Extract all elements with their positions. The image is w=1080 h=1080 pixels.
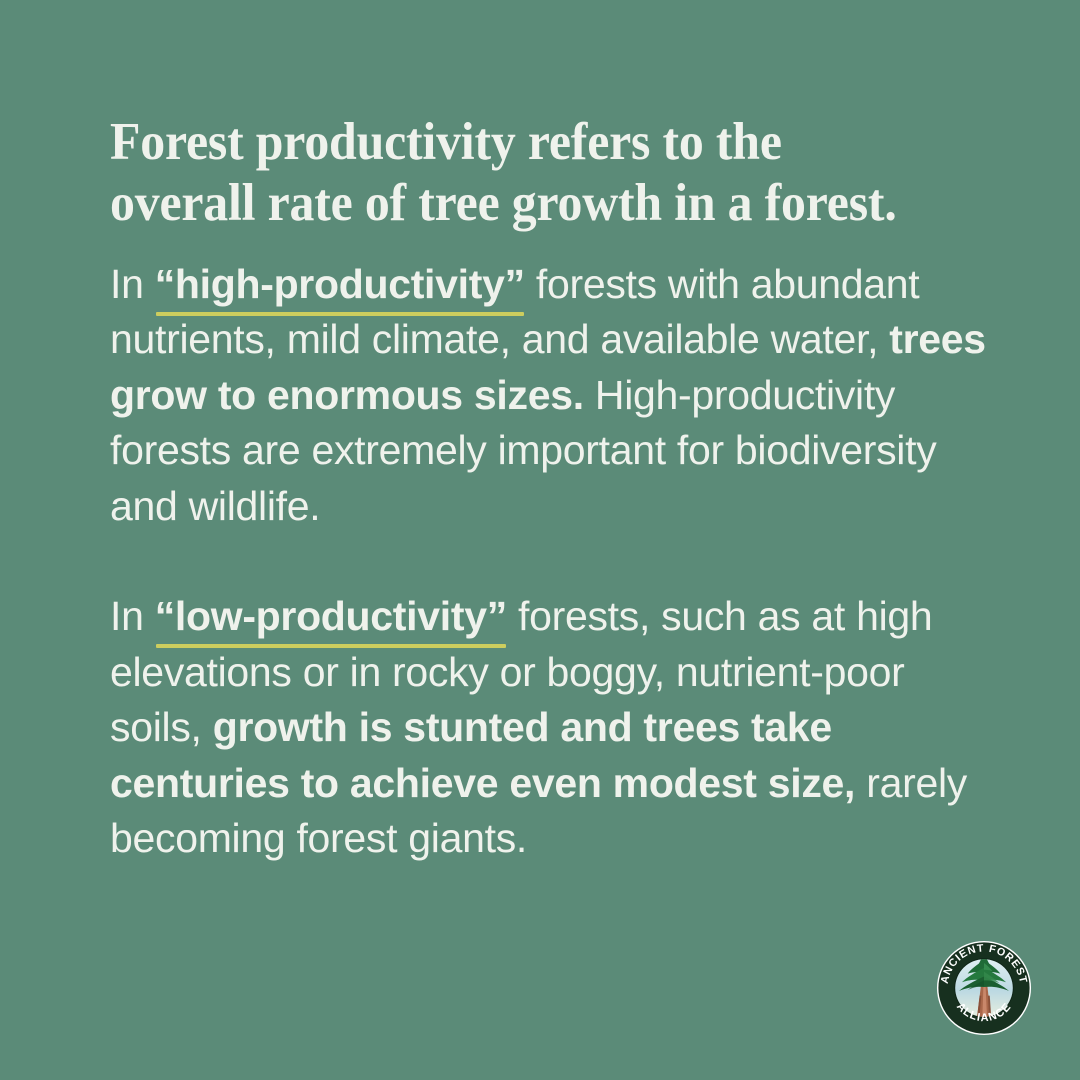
paragraph-high-productivity: In “high-productivity” forests with abun…	[110, 257, 990, 535]
page-title: Forest productivity refers to the overal…	[110, 112, 937, 235]
emphasis-underlined: “low-productivity”	[155, 593, 507, 639]
emphasis-bold: growth is stunted and trees take centuri…	[110, 704, 855, 806]
paragraph-low-productivity: In “low-productivity” forests, such as a…	[110, 589, 990, 867]
body-copy: In “high-productivity” forests with abun…	[110, 257, 990, 867]
text-run: In	[110, 261, 155, 307]
social-graphic-card: Forest productivity refers to the overal…	[0, 0, 1080, 1080]
content-container: Forest productivity refers to the overal…	[110, 112, 990, 867]
ancient-forest-alliance-logo: ANCIENT FOREST ALLIANCE	[936, 940, 1032, 1036]
text-run: In	[110, 593, 155, 639]
emphasis-underlined: “high-productivity”	[155, 261, 525, 307]
